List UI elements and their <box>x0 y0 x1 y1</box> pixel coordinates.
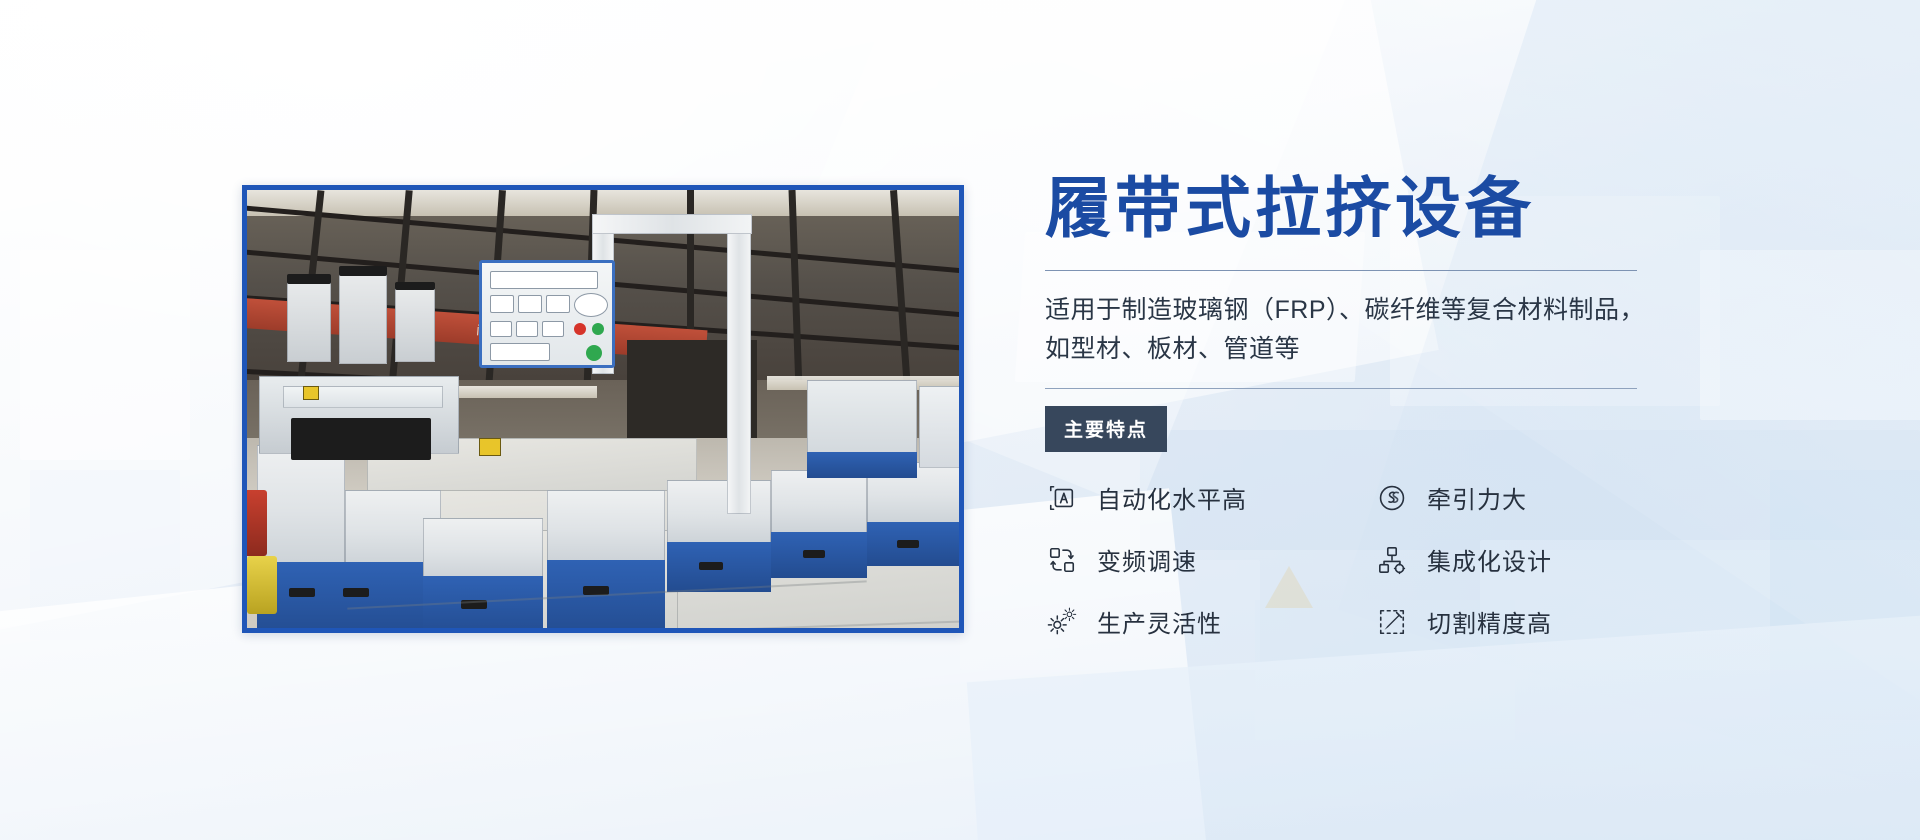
feature-item-frequency[interactable]: 变频调速 <box>1045 540 1375 580</box>
product-photo-scene: 生 产 车 间 <box>247 190 959 628</box>
feature-label: 变频调速 <box>1097 542 1197 577</box>
feature-item-integration[interactable]: 集成化设计 <box>1375 540 1705 580</box>
divider-top <box>1045 270 1637 271</box>
traction-icon <box>1375 481 1409 515</box>
cut-precision-icon <box>1375 605 1409 639</box>
subtitle-text: 适用于制造玻璃钢（FRP）、碳纤维等复合材料制品，如型材、板材、管道等 <box>1045 291 1645 370</box>
control-panel <box>479 260 615 368</box>
banner-content: 履带式拉挤设备 适用于制造玻璃钢（FRP）、碳纤维等复合材料制品，如型材、板材、… <box>1045 172 1705 642</box>
frequency-icon <box>1045 543 1079 577</box>
integration-icon <box>1375 543 1409 577</box>
feature-label: 切割精度高 <box>1427 604 1552 639</box>
feature-list: 自动化水平高 牵引力大 <box>1045 478 1705 642</box>
gears-icon <box>1045 605 1079 639</box>
feature-item-flexibility[interactable]: 生产灵活性 <box>1045 602 1375 642</box>
product-photo[interactable]: 生 产 车 间 <box>242 185 964 633</box>
feature-label: 集成化设计 <box>1427 542 1552 577</box>
product-banner: 生 产 车 间 <box>0 0 1920 840</box>
divider-bottom <box>1045 388 1637 389</box>
feature-item-traction[interactable]: 牵引力大 <box>1375 478 1705 518</box>
feature-label: 自动化水平高 <box>1097 480 1247 515</box>
automation-icon <box>1045 481 1079 515</box>
feature-item-cut-precision[interactable]: 切割精度高 <box>1375 602 1705 642</box>
feature-label: 牵引力大 <box>1427 480 1527 515</box>
page-title: 履带式拉挤设备 <box>1045 172 1705 246</box>
status-badge: 主要特点 <box>1045 406 1167 452</box>
feature-item-automation[interactable]: 自动化水平高 <box>1045 478 1375 518</box>
feature-label: 生产灵活性 <box>1097 604 1222 639</box>
